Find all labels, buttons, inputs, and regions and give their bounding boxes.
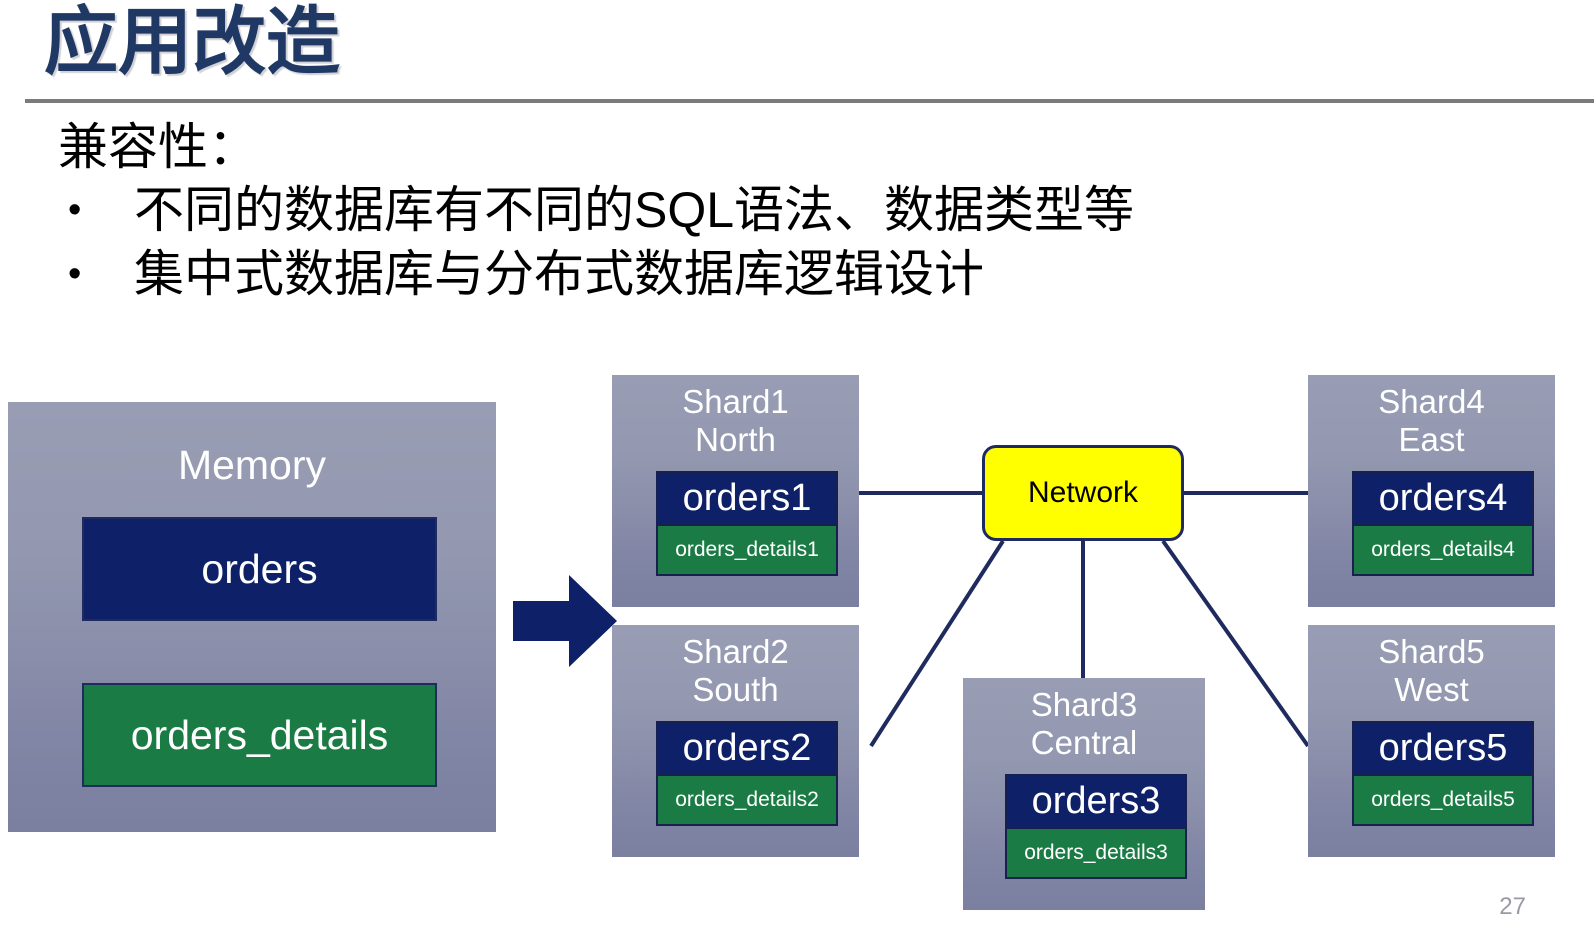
slide-page-number: 27 [1499, 893, 1526, 921]
list-item: • 集中式数据库与分布式数据库逻辑设计 [58, 244, 1458, 304]
shard3-title: Shard3Central [963, 678, 1205, 763]
shard4-table-detail: orders_details4 [1352, 524, 1534, 576]
shard-panel-shard4: Shard4East orders4 orders_details4 [1308, 375, 1555, 607]
shard4-title: Shard4East [1308, 375, 1555, 460]
list-item: • 不同的数据库有不同的SQL语法、数据类型等 [58, 180, 1458, 240]
shard-panel-shard2: Shard2South orders2 orders_details2 [612, 625, 859, 857]
shard2-title: Shard2South [612, 625, 859, 710]
memory-panel: Memory orders orders_details [8, 402, 496, 832]
bullet-dot-icon: • [58, 180, 134, 240]
shard1-table-detail: orders_details1 [656, 524, 838, 576]
memory-table-orders-details: orders_details [82, 683, 437, 787]
bullet-text: 不同的数据库有不同的SQL语法、数据类型等 [134, 180, 1458, 240]
shard-panel-shard1: Shard1North orders1 orders_details1 [612, 375, 859, 607]
shard5-table-detail: orders_details5 [1352, 774, 1534, 826]
shard3-table-main: orders3 [1005, 774, 1187, 829]
shard5-table-main: orders5 [1352, 721, 1534, 776]
bullet-text: 集中式数据库与分布式数据库逻辑设计 [134, 244, 1458, 304]
slide-canvas: 应用改造 兼容性： • 不同的数据库有不同的SQL语法、数据类型等 • 集中式数… [0, 0, 1594, 939]
shard2-table-detail: orders_details2 [656, 774, 838, 826]
transform-arrow-icon [513, 575, 617, 667]
shard2-table-main: orders2 [656, 721, 838, 776]
body-content: 兼容性： • 不同的数据库有不同的SQL语法、数据类型等 • 集中式数据库与分布… [58, 118, 1458, 304]
page-title: 应用改造 [44, 0, 340, 85]
shard5-title: Shard5West [1308, 625, 1555, 710]
shard1-table-main: orders1 [656, 471, 838, 526]
shard-panel-shard3: Shard3Central orders3 orders_details3 [963, 678, 1205, 910]
memory-panel-title: Memory [8, 402, 496, 490]
shard1-title: Shard1North [612, 375, 859, 460]
bullet-dot-icon: • [58, 244, 134, 304]
architecture-diagram: Memory orders orders_details Shard1North… [0, 360, 1594, 939]
shard-panel-shard5: Shard5West orders5 orders_details5 [1308, 625, 1555, 857]
shard4-table-main: orders4 [1352, 471, 1534, 526]
shard3-table-detail: orders_details3 [1005, 827, 1187, 879]
network-node: Network [982, 445, 1184, 541]
body-lead-text: 兼容性： [58, 118, 1458, 176]
title-divider [25, 99, 1594, 103]
memory-table-orders: orders [82, 517, 437, 621]
